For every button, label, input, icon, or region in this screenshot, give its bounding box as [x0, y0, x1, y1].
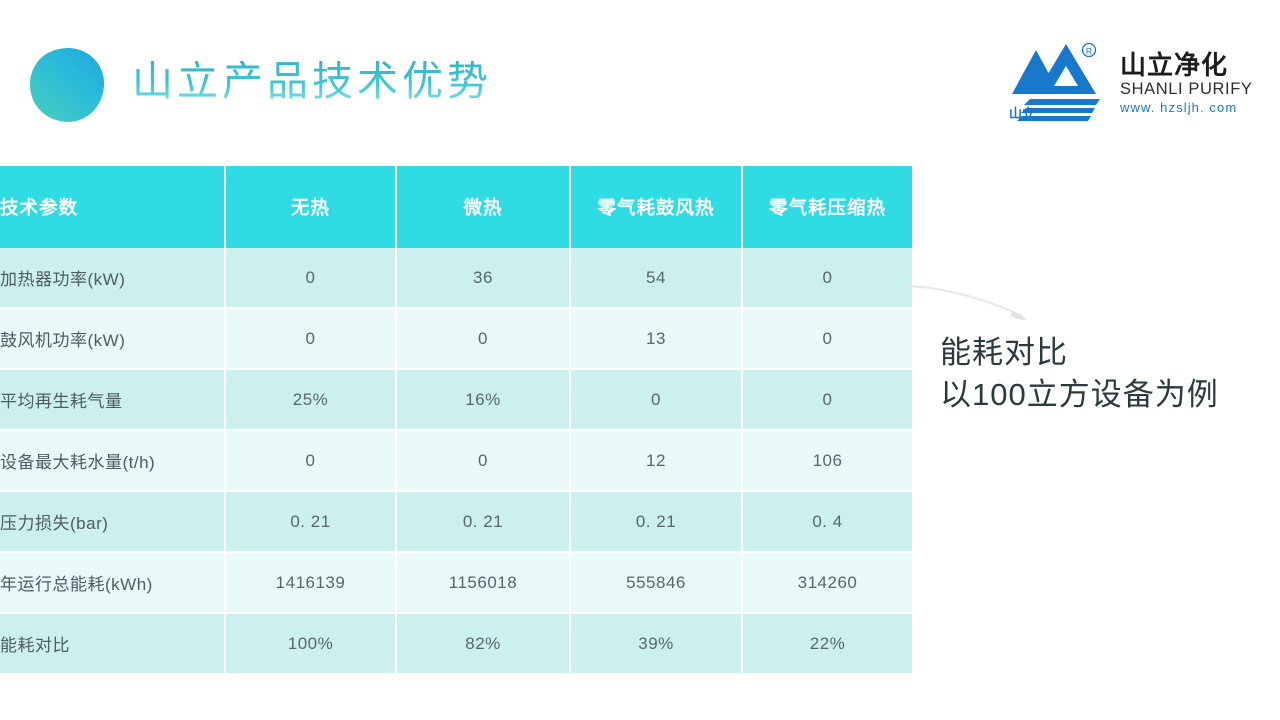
cell-value: 82% [396, 613, 570, 673]
organic-blob-shape [28, 47, 106, 123]
row-label: 设备最大耗水量(t/h) [0, 430, 225, 491]
svg-text:山立: 山立 [1009, 106, 1035, 121]
cell-value: 1156018 [396, 552, 570, 613]
page-title: 山立产品技术优势 [132, 61, 492, 102]
cell-value: 0 [225, 430, 396, 491]
logo-wordmark: 山立净化 SHANLI PURIFY www. hzsljh. com [1120, 50, 1242, 116]
column-header-weire: 微热 [396, 166, 570, 248]
cell-value: 0 [225, 308, 396, 369]
cell-value: 314260 [742, 552, 912, 613]
callout-annotation: 能耗对比 以100立方设备为例 [940, 332, 1270, 416]
row-label: 鼓风机功率(kW) [0, 308, 225, 369]
table-header-row: 技术参数 无热 微热 零气耗鼓风热 零气耗压缩热 [0, 166, 912, 248]
table-row: 压力损失(bar) 0. 21 0. 21 0. 21 0. 4 [0, 491, 912, 552]
cell-value: 0 [742, 308, 912, 369]
row-label: 能耗对比 [0, 613, 225, 673]
cell-value: 12 [570, 430, 742, 491]
cell-value: 39% [570, 613, 742, 673]
table-row: 设备最大耗水量(t/h) 0 0 12 106 [0, 430, 912, 491]
callout-line-2: 以100立方设备为例 [940, 374, 1270, 416]
cell-value: 0 [570, 369, 742, 430]
cell-value: 0. 21 [570, 491, 742, 552]
row-label: 平均再生耗气量 [0, 369, 225, 430]
column-header-gufeng: 零气耗鼓风热 [570, 166, 742, 248]
cell-value: 1416139 [225, 552, 396, 613]
logo-name-cn: 山立净化 [1120, 50, 1242, 80]
callout-line-1: 能耗对比 [940, 332, 1270, 374]
brand-logo: R 山立 山立净化 SHANLI PURIFY www. hzsljh. com [1008, 38, 1240, 124]
logo-website-url: www. hzsljh. com [1120, 99, 1242, 116]
cell-value: 0. 21 [225, 491, 396, 552]
cell-value: 0 [225, 248, 396, 308]
row-label: 压力损失(bar) [0, 491, 225, 552]
technical-spec-table: 技术参数 无热 微热 零气耗鼓风热 零气耗压缩热 加热器功率(kW) 0 36 … [0, 166, 912, 673]
cell-value: 22% [742, 613, 912, 673]
cell-value: 36 [396, 248, 570, 308]
column-header-wure: 无热 [225, 166, 396, 248]
svg-text:R: R [1086, 46, 1092, 56]
cell-value: 106 [742, 430, 912, 491]
table-row: 鼓风机功率(kW) 0 0 13 0 [0, 308, 912, 369]
column-header-yasuo: 零气耗压缩热 [742, 166, 912, 248]
cell-value: 0 [742, 248, 912, 308]
cell-value: 25% [225, 369, 396, 430]
column-header-param: 技术参数 [0, 166, 225, 248]
cell-value: 0. 4 [742, 491, 912, 552]
cell-value: 13 [570, 308, 742, 369]
cell-value: 0 [396, 430, 570, 491]
row-label: 加热器功率(kW) [0, 248, 225, 308]
cell-value: 100% [225, 613, 396, 673]
table-row: 加热器功率(kW) 0 36 54 0 [0, 248, 912, 308]
table-row: 能耗对比 100% 82% 39% 22% [0, 613, 912, 673]
cell-value: 54 [570, 248, 742, 308]
cell-value: 555846 [570, 552, 742, 613]
table-row: 平均再生耗气量 25% 16% 0 0 [0, 369, 912, 430]
cell-value: 16% [396, 369, 570, 430]
row-label: 年运行总能耗(kWh) [0, 552, 225, 613]
cell-value: 0 [742, 369, 912, 430]
table-row: 年运行总能耗(kWh) 1416139 1156018 555846 31426… [0, 552, 912, 613]
cell-value: 0. 21 [396, 491, 570, 552]
shanli-mountain-logo-icon: R 山立 [1008, 38, 1112, 124]
slide-header: 山立产品技术优势 R 山立 山立净化 SHA [0, 0, 1280, 160]
logo-name-en: SHANLI PURIFY [1120, 80, 1242, 99]
cell-value: 0 [396, 308, 570, 369]
curved-arrow-icon [900, 272, 1070, 334]
